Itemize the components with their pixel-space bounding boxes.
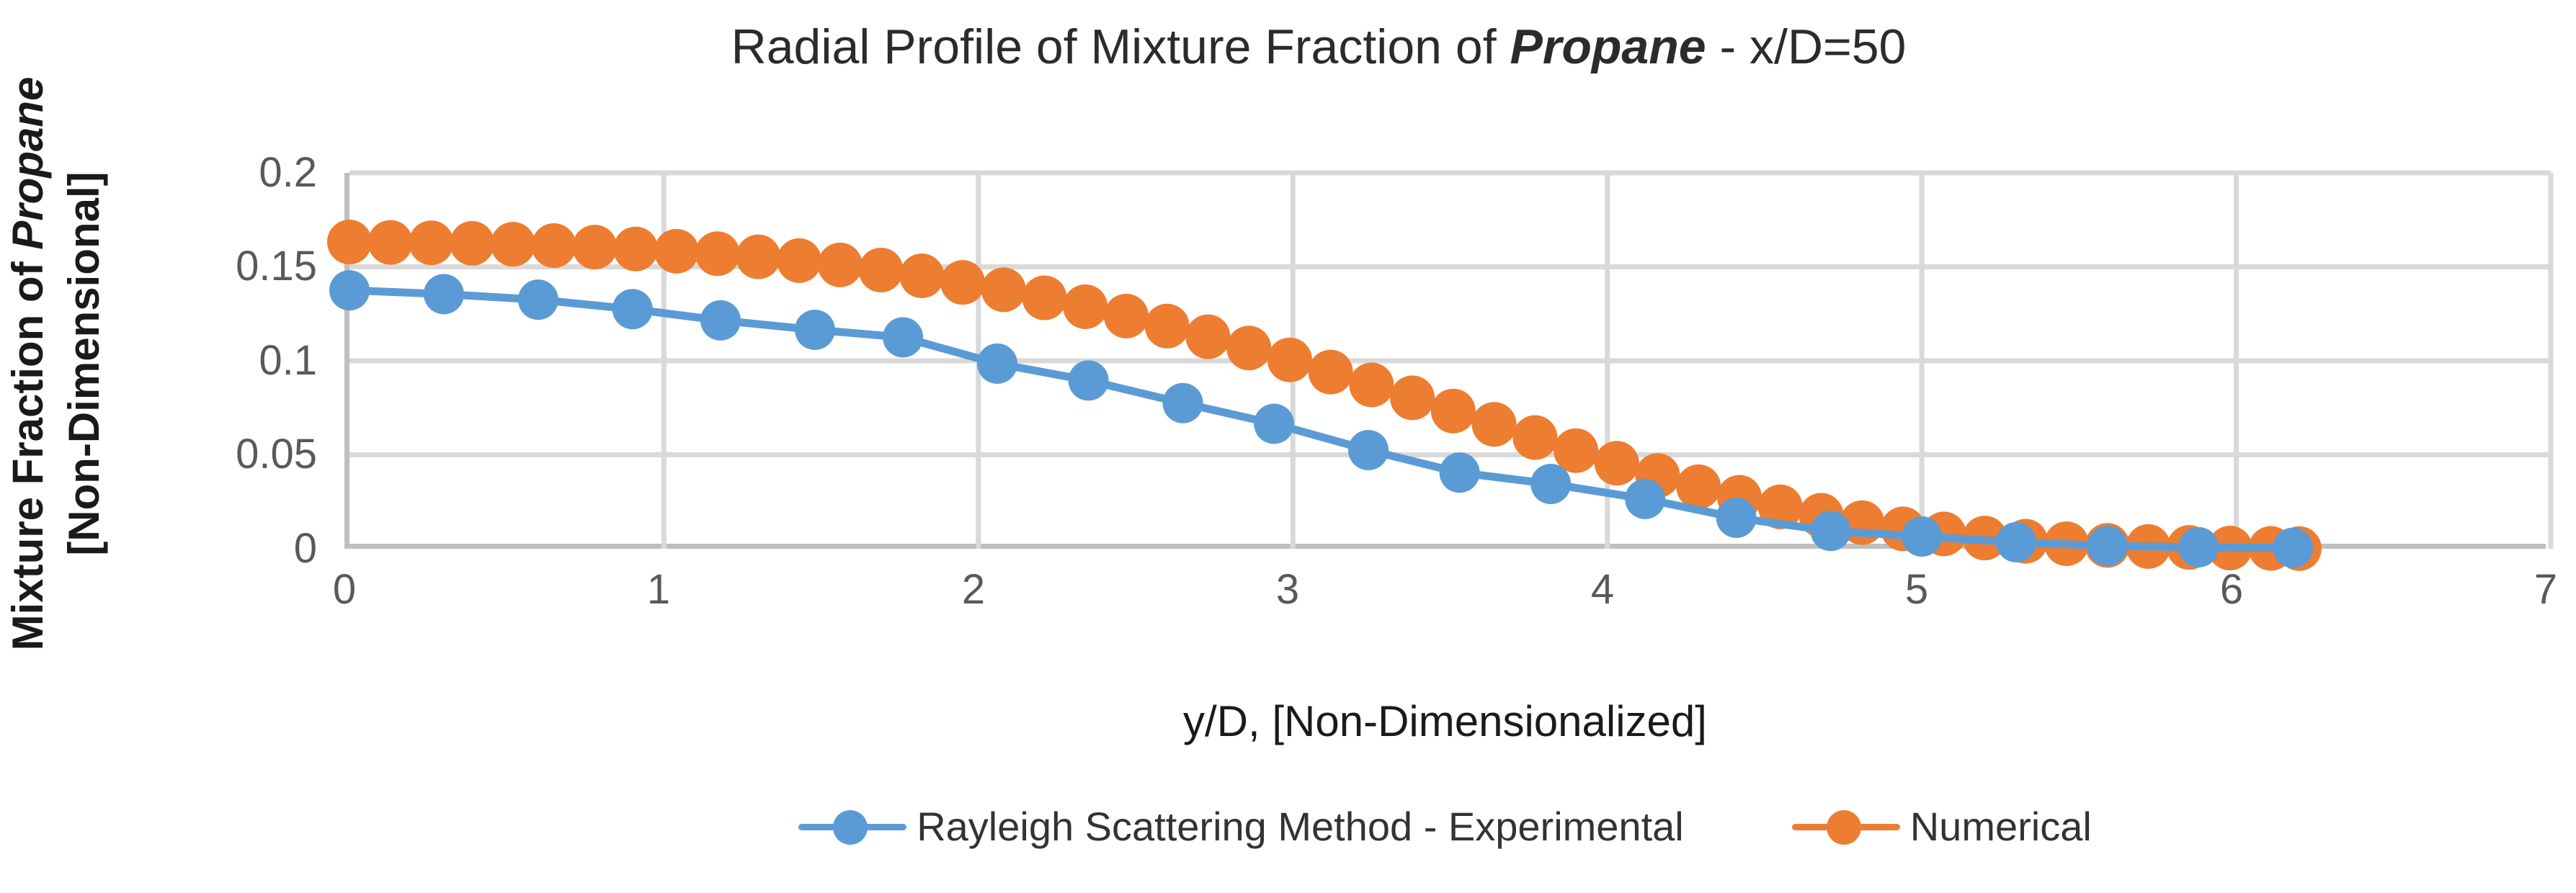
data-point: [899, 253, 944, 298]
data-point: [1902, 516, 1942, 557]
x-tick-label-4: 4: [1545, 569, 1660, 611]
y-tick-label-0.2: 0.2: [122, 152, 317, 194]
data-point: [1716, 498, 1757, 538]
legend-marker-numerical-icon: [1792, 807, 1900, 847]
data-point: [1625, 479, 1665, 519]
y-axis-title-prefix: Mixture Fraction of: [4, 250, 52, 651]
data-point: [2178, 527, 2219, 567]
data-point: [424, 274, 464, 314]
data-point: [1267, 338, 1312, 382]
data-point: [1145, 304, 1190, 349]
data-point: [1349, 362, 1394, 407]
data-point: [1390, 375, 1435, 420]
x-tick-label-0: 0: [287, 569, 402, 611]
data-point: [327, 220, 372, 264]
data-point: [1104, 294, 1149, 338]
chart-title: Radial Profile of Mixture Fraction of Pr…: [274, 17, 2363, 76]
data-point: [491, 222, 535, 266]
data-point: [1163, 383, 1203, 423]
x-axis-title: y/D, [Non-Dimensionalized]: [344, 695, 2546, 748]
data-point: [518, 279, 558, 320]
data-point: [1676, 465, 1721, 509]
data-point: [1185, 315, 1230, 359]
data-point: [1309, 350, 1353, 395]
data-point: [2273, 528, 2313, 568]
legend-label-experimental: Rayleigh Scattering Method - Experimenta…: [917, 805, 1684, 848]
y-axis-title-emphasis: Propane: [4, 77, 52, 250]
data-point: [818, 243, 863, 287]
x-tick-label-5: 5: [1859, 569, 1974, 611]
x-tick-label-1: 1: [601, 569, 716, 611]
data-point: [2087, 526, 2128, 566]
legend-entry-experimental[interactable]: Rayleigh Scattering Method - Experimenta…: [798, 805, 1684, 848]
data-point: [736, 235, 780, 279]
data-point: [981, 267, 1026, 312]
data-point: [795, 310, 835, 350]
data-point: [977, 344, 1017, 384]
series-line: [349, 242, 2299, 549]
plot-area: [344, 173, 2546, 549]
series-layer: [327, 220, 2322, 571]
data-point: [654, 229, 699, 274]
data-point: [883, 317, 923, 357]
data-point: [1431, 389, 1476, 434]
y-tick-label-0: 0: [122, 528, 317, 570]
data-point: [1069, 360, 1109, 400]
data-point: [1063, 284, 1107, 329]
data-point: [1530, 464, 1571, 504]
y-axis-title-line-1: Mixture Fraction of Propane: [0, 25, 56, 702]
chart-legend: Rayleigh Scattering Method - Experimenta…: [344, 805, 2546, 848]
y-axis-title: Mixture Fraction of Propane [Non-Dimensi…: [0, 25, 122, 702]
data-point: [1512, 415, 1557, 459]
data-point: [1440, 452, 1480, 493]
chart-title-prefix: Radial Profile of Mixture Fraction of: [731, 19, 1510, 74]
chart-title-emphasis: Propane: [1510, 19, 1706, 74]
data-point: [1996, 522, 2036, 562]
y-tick-label-0.05: 0.05: [122, 434, 317, 475]
chart-title-suffix: - x/D=50: [1706, 19, 1907, 74]
data-point: [695, 231, 740, 276]
data-point: [859, 248, 904, 292]
y-tick-label-0.1: 0.1: [122, 340, 317, 382]
x-tick-label-3: 3: [1230, 569, 1345, 611]
plot-svg: [349, 173, 2551, 549]
data-point: [1595, 441, 1639, 485]
data-point: [532, 223, 576, 268]
y-axis-title-line-2: [Non-Dimensional]: [56, 25, 112, 702]
data-point: [1811, 511, 1851, 551]
x-tick-label-6: 6: [2174, 569, 2289, 611]
series-line: [349, 290, 2293, 548]
x-tick-label-7: 7: [2488, 569, 2576, 611]
data-point: [1472, 402, 1517, 447]
data-point: [700, 300, 741, 341]
data-point: [368, 220, 413, 265]
x-tick-label-2: 2: [916, 569, 1031, 611]
data-point: [613, 227, 658, 272]
legend-entry-numerical[interactable]: Numerical: [1792, 805, 2092, 848]
data-point: [329, 270, 370, 310]
data-point: [1254, 403, 1294, 444]
series-experimental: [329, 270, 2313, 568]
chart-container: Radial Profile of Mixture Fraction of Pr…: [0, 0, 2576, 893]
data-point: [777, 238, 821, 283]
data-point: [1022, 276, 1067, 320]
series-numerical: [327, 220, 2322, 571]
legend-label-numerical: Numerical: [1910, 805, 2092, 848]
data-point: [1226, 326, 1271, 370]
data-point: [572, 225, 617, 269]
data-point: [612, 289, 653, 329]
legend-marker-experimental-icon: [798, 807, 906, 847]
data-point: [940, 260, 985, 305]
data-point: [409, 220, 453, 265]
y-tick-label-0.15: 0.15: [122, 246, 317, 287]
data-point: [1348, 430, 1389, 470]
data-point: [450, 221, 494, 266]
